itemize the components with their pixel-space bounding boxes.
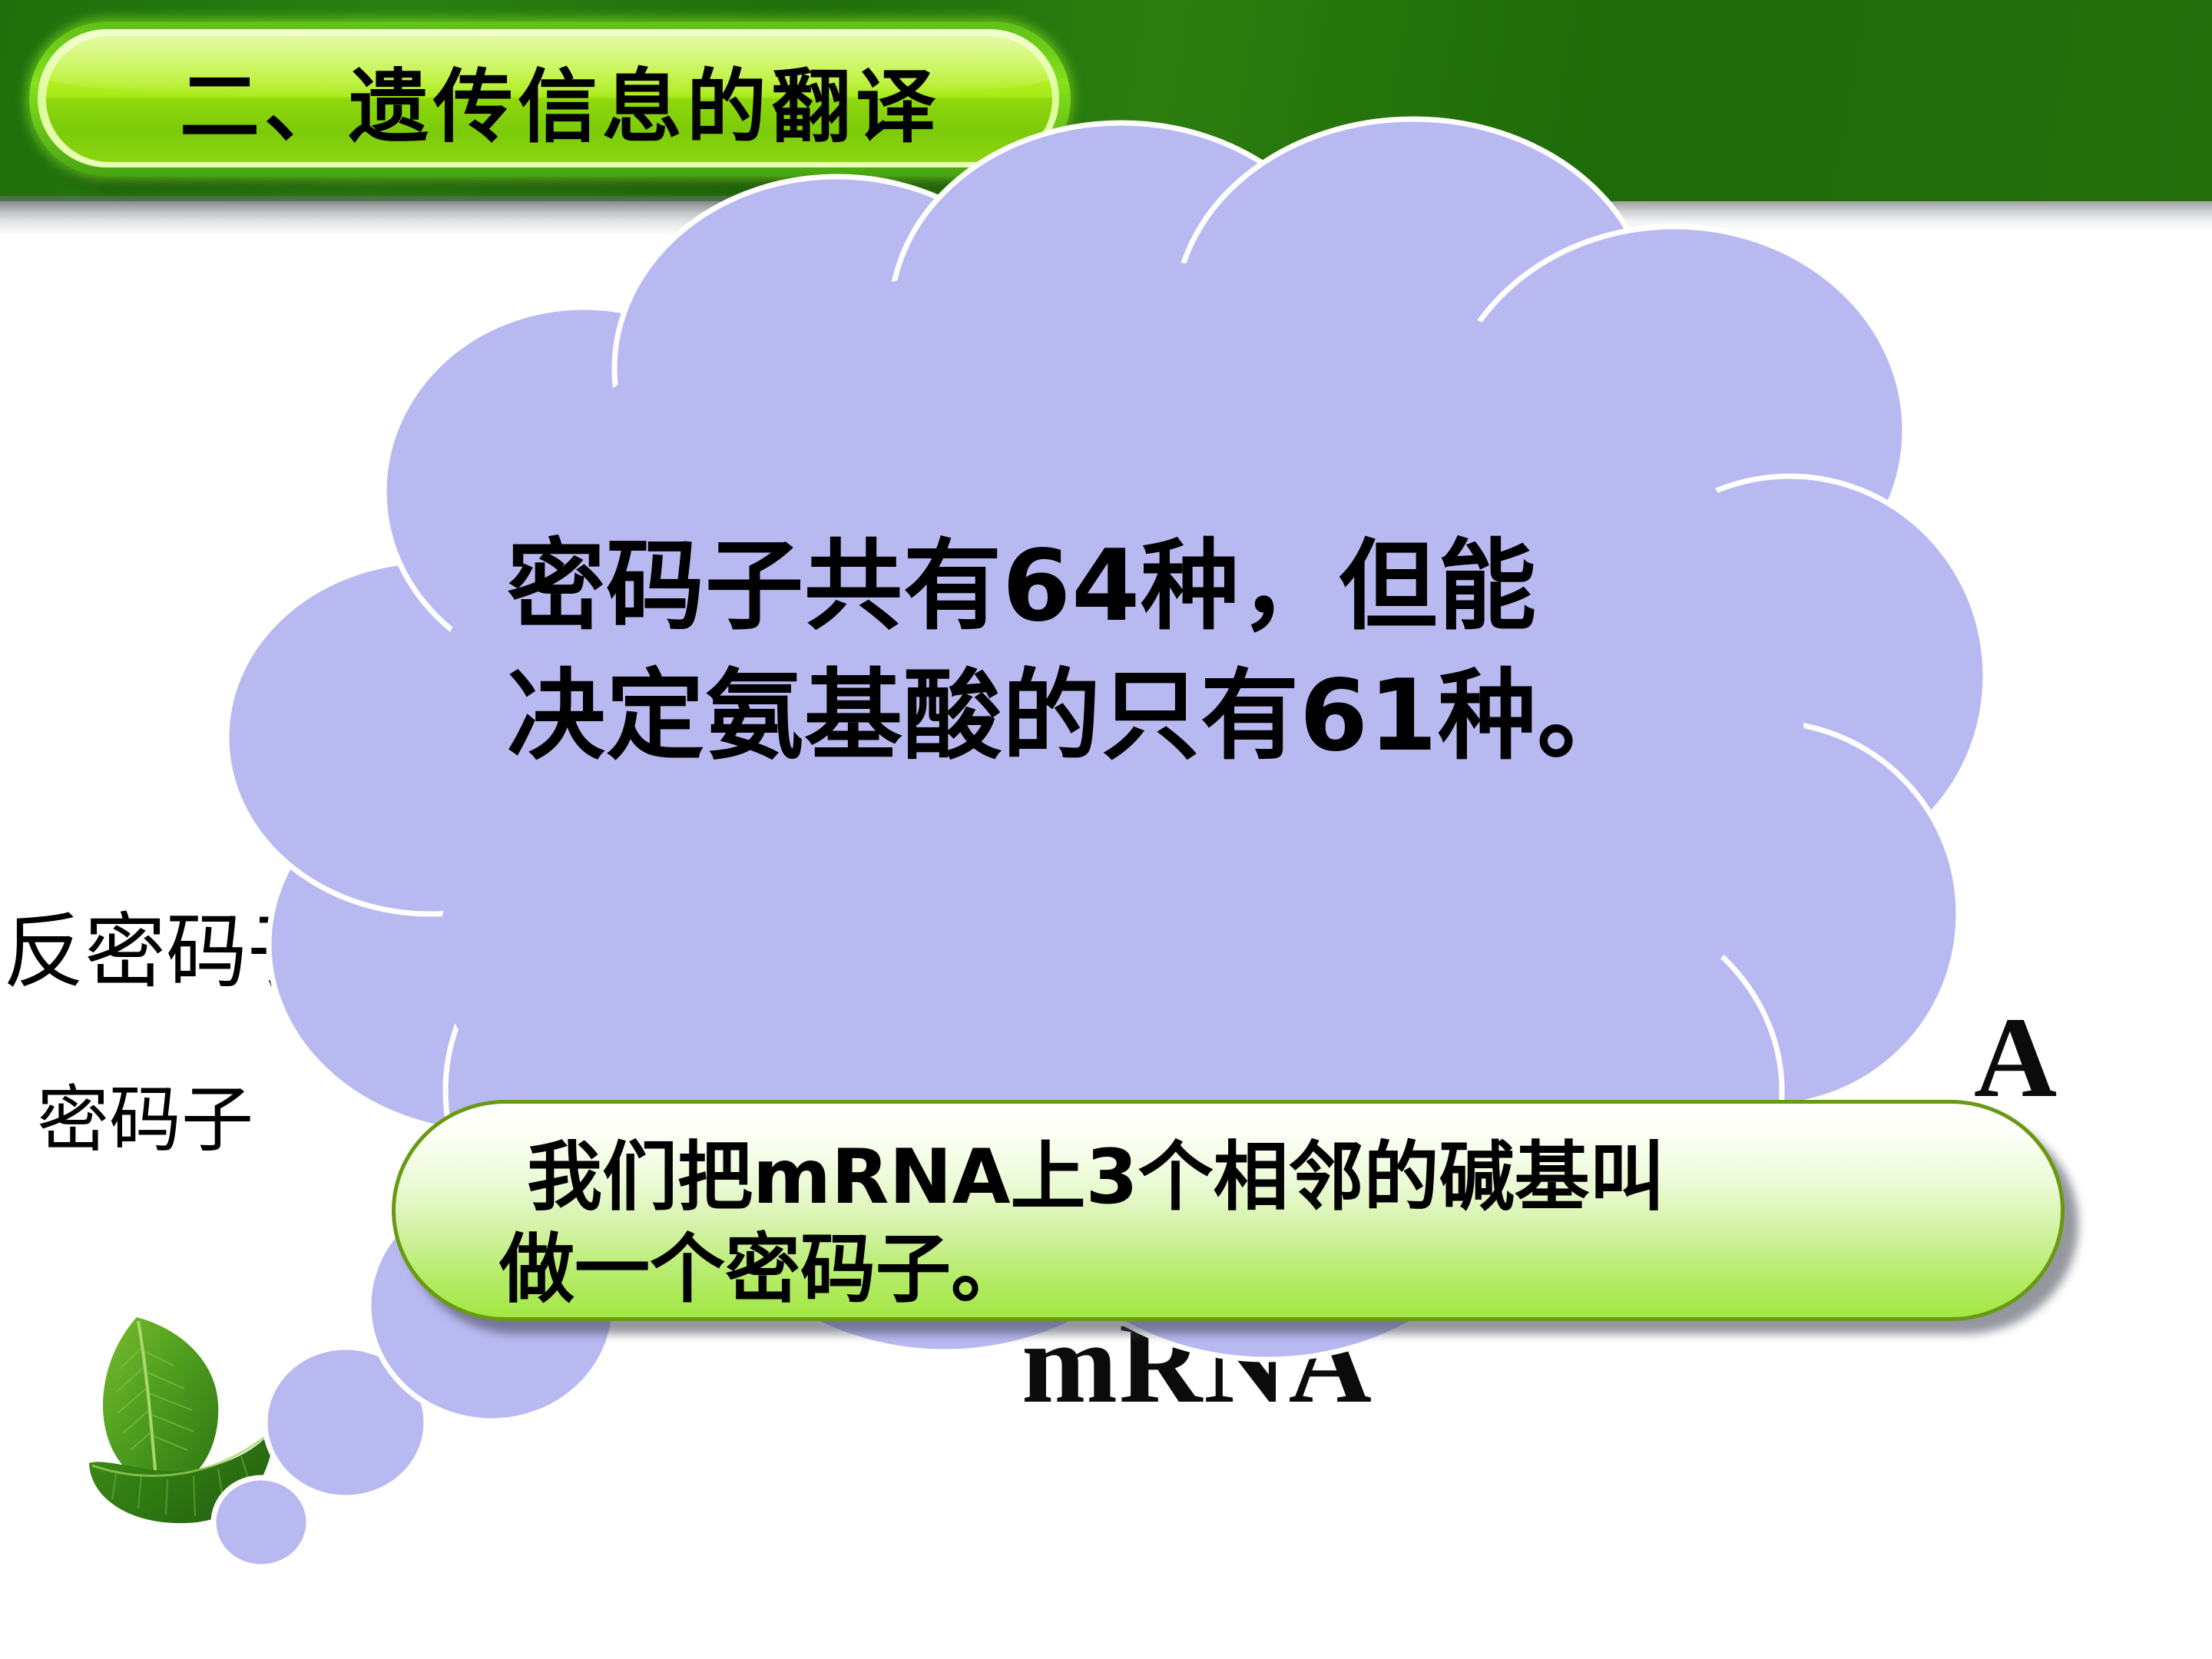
callout-text-block: 我们把mRNA上3个相邻的碱基叫 做一个密码子。 [499, 1132, 1959, 1316]
bubble-text-block: 密码子共有64种，但能 决定氨基酸的只有61种。 [507, 522, 1813, 782]
bubble-line-2: 决定氨基酸的只有61种。 [507, 652, 1813, 782]
thought-bubble [0, 0, 2212, 1659]
presentation-slide: 二、遗传信息的翻译 反密码子 密码子 U G A mRNA [0, 0, 2212, 1659]
callout-line-2: 做一个密码子。 [499, 1224, 1959, 1316]
bubble-tail-dot-1 [214, 1478, 309, 1567]
callout-line-1: 我们把mRNA上3个相邻的碱基叫 [499, 1132, 1959, 1224]
green-callout: 我们把mRNA上3个相邻的碱基叫 做一个密码子。 [392, 1100, 2081, 1334]
bubble-line-1: 密码子共有64种，但能 [507, 522, 1813, 652]
